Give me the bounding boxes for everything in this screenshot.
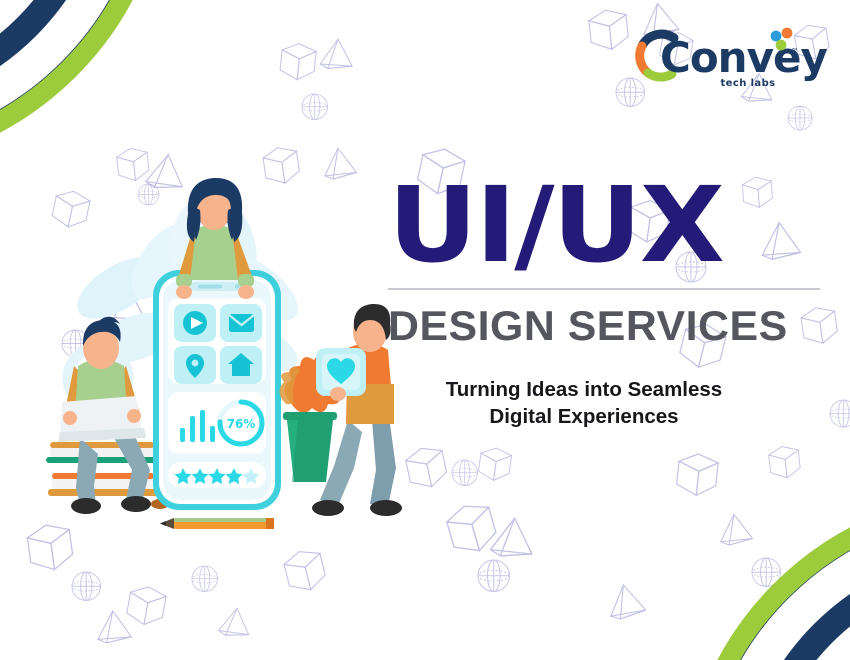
trademark-symbol: ™ [791, 47, 799, 56]
brand-logo[interactable]: Convey ™ tech labs [630, 24, 822, 98]
logo-layer: Convey ™ tech labs [0, 0, 850, 660]
logo-tagline: tech labs [721, 78, 776, 89]
poster-canvas: 76% [0, 0, 850, 660]
logo-wordmark: Convey [660, 33, 827, 82]
